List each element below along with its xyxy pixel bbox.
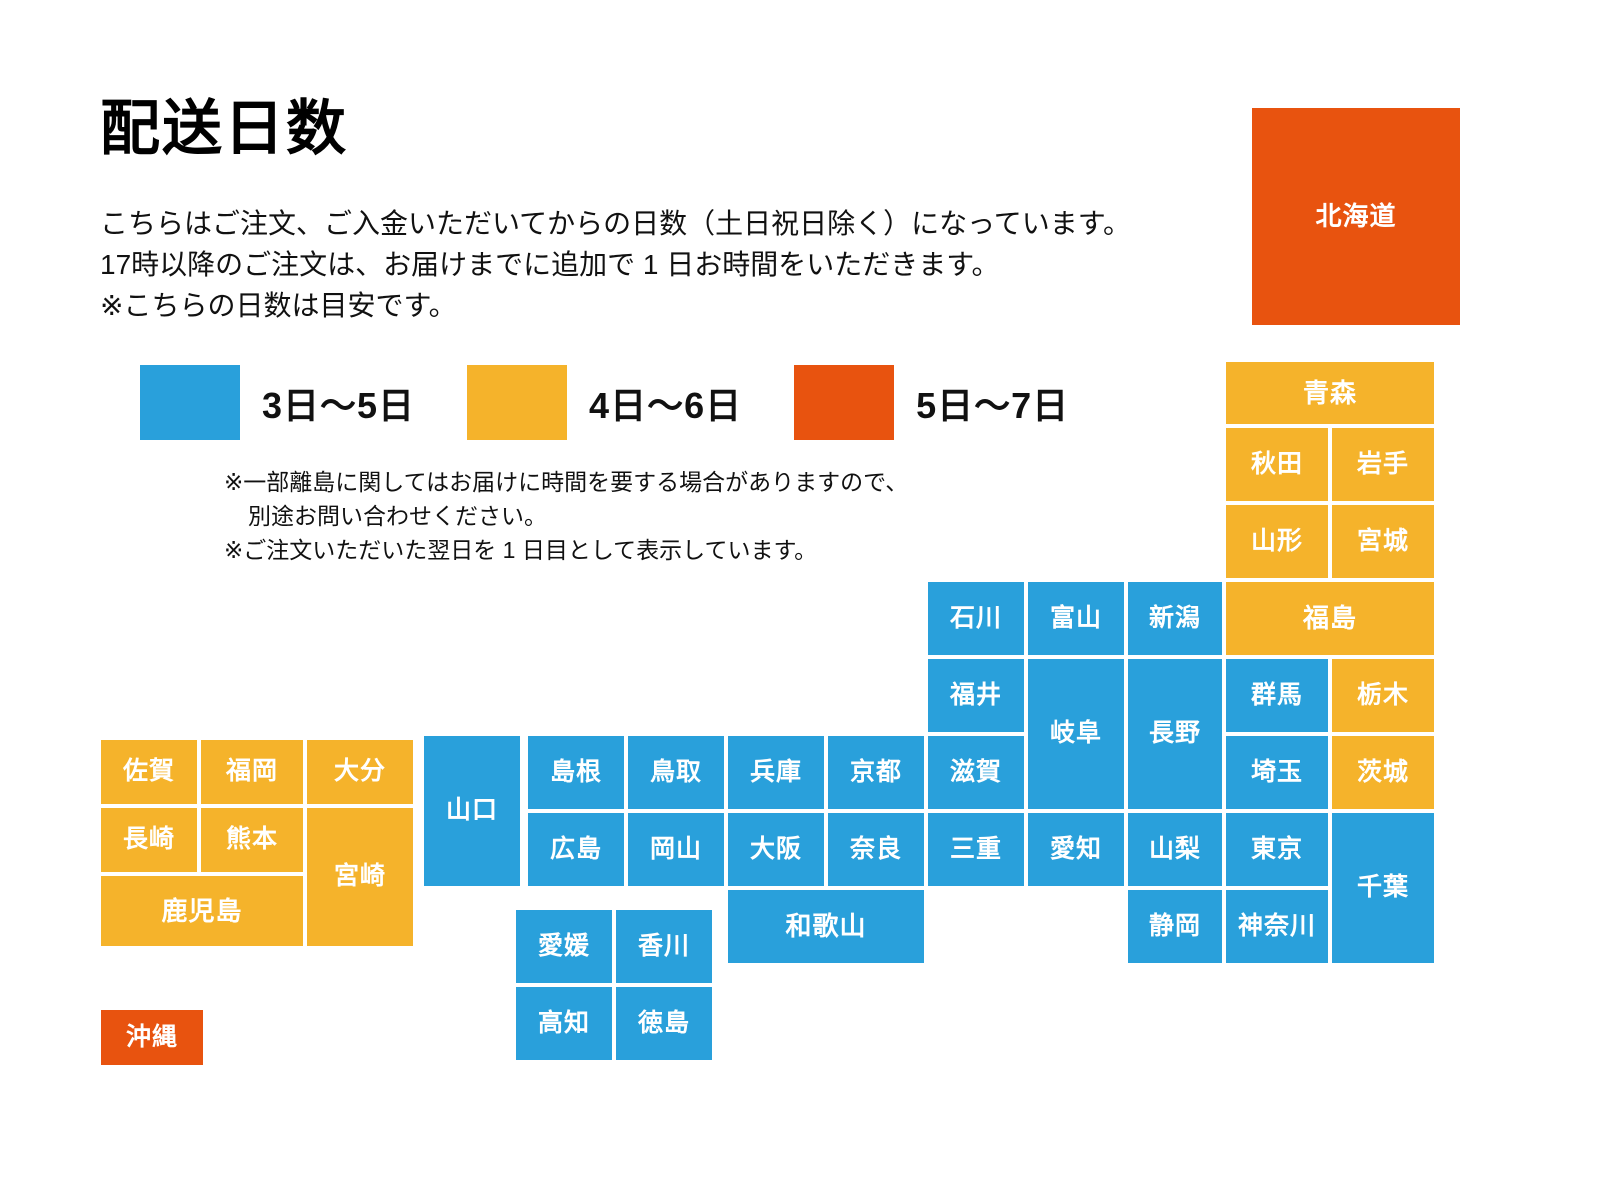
japan-prefecture-map: 北海道青森秋田岩手山形宮城福島石川富山新潟福井岐阜長野群馬栃木滋賀埼玉茨城山口島…	[0, 0, 1600, 1200]
prefecture-label: 富山	[1050, 605, 1102, 633]
prefecture-label: 徳島	[638, 1010, 690, 1038]
prefecture-label: 奈良	[850, 836, 902, 864]
prefecture-label: 佐賀	[123, 758, 175, 786]
prefecture-cell[interactable]: 兵庫	[728, 736, 824, 809]
prefecture-label: 山口	[446, 797, 498, 825]
prefecture-label: 福井	[950, 682, 1002, 710]
prefecture-cell[interactable]: 富山	[1028, 582, 1124, 655]
prefecture-cell[interactable]: 滋賀	[928, 736, 1024, 809]
prefecture-cell[interactable]: 愛知	[1028, 813, 1124, 886]
prefecture-label: 三重	[950, 836, 1002, 864]
prefecture-cell[interactable]: 岡山	[628, 813, 724, 886]
prefecture-label: 岐阜	[1050, 720, 1102, 748]
prefecture-cell[interactable]: 三重	[928, 813, 1024, 886]
prefecture-label: 静岡	[1149, 913, 1201, 941]
prefecture-cell[interactable]: 北海道	[1252, 108, 1460, 325]
prefecture-label: 福島	[1303, 604, 1357, 633]
prefecture-cell[interactable]: 福岡	[201, 740, 303, 804]
prefecture-cell[interactable]: 東京	[1226, 813, 1328, 886]
prefecture-cell[interactable]: 群馬	[1226, 659, 1328, 732]
prefecture-label: 長野	[1149, 720, 1201, 748]
prefecture-cell[interactable]: 宮崎	[307, 808, 413, 946]
prefecture-label: 鳥取	[650, 759, 702, 787]
prefecture-label: 滋賀	[950, 759, 1002, 787]
prefecture-label: 和歌山	[785, 912, 866, 941]
prefecture-label: 京都	[850, 759, 902, 787]
prefecture-label: 神奈川	[1238, 913, 1316, 941]
prefecture-label: 山形	[1251, 528, 1303, 556]
prefecture-cell[interactable]: 宮城	[1332, 505, 1434, 578]
prefecture-cell[interactable]: 佐賀	[101, 740, 197, 804]
prefecture-cell[interactable]: 福井	[928, 659, 1024, 732]
prefecture-cell[interactable]: 大分	[307, 740, 413, 804]
prefecture-cell[interactable]: 栃木	[1332, 659, 1434, 732]
prefecture-cell[interactable]: 福島	[1226, 582, 1434, 655]
prefecture-label: 島根	[550, 759, 602, 787]
prefecture-cell[interactable]: 徳島	[616, 987, 712, 1060]
prefecture-label: 青森	[1303, 379, 1357, 408]
prefecture-label: 宮城	[1357, 528, 1409, 556]
prefecture-cell[interactable]: 秋田	[1226, 428, 1328, 501]
prefecture-cell[interactable]: 鹿児島	[101, 876, 303, 946]
prefecture-cell[interactable]: 埼玉	[1226, 736, 1328, 809]
prefecture-cell[interactable]: 岐阜	[1028, 659, 1124, 809]
prefecture-label: 沖縄	[126, 1024, 178, 1052]
prefecture-label: 秋田	[1251, 451, 1303, 479]
prefecture-label: 長崎	[123, 826, 175, 854]
prefecture-label: 岩手	[1357, 451, 1409, 479]
prefecture-cell[interactable]: 神奈川	[1226, 890, 1328, 963]
prefecture-cell[interactable]: 千葉	[1332, 813, 1434, 963]
prefecture-label: 茨城	[1357, 759, 1409, 787]
prefecture-label: 東京	[1251, 836, 1303, 864]
prefecture-label: 石川	[950, 605, 1002, 633]
prefecture-cell[interactable]: 山梨	[1128, 813, 1222, 886]
prefecture-label: 岡山	[650, 836, 702, 864]
prefecture-cell[interactable]: 長崎	[101, 808, 197, 872]
prefecture-cell[interactable]: 島根	[528, 736, 624, 809]
prefecture-label: 北海道	[1315, 202, 1396, 231]
prefecture-cell[interactable]: 石川	[928, 582, 1024, 655]
prefecture-label: 新潟	[1149, 605, 1201, 633]
prefecture-cell[interactable]: 熊本	[201, 808, 303, 872]
prefecture-cell[interactable]: 新潟	[1128, 582, 1222, 655]
prefecture-cell[interactable]: 広島	[528, 813, 624, 886]
prefecture-cell[interactable]: 和歌山	[728, 890, 924, 963]
prefecture-cell[interactable]: 茨城	[1332, 736, 1434, 809]
prefecture-label: 鹿児島	[161, 897, 242, 926]
prefecture-label: 大阪	[750, 836, 802, 864]
prefecture-cell[interactable]: 静岡	[1128, 890, 1222, 963]
prefecture-label: 高知	[538, 1010, 590, 1038]
prefecture-cell[interactable]: 青森	[1226, 362, 1434, 424]
prefecture-label: 栃木	[1357, 682, 1409, 710]
prefecture-label: 群馬	[1251, 682, 1303, 710]
prefecture-label: 愛媛	[538, 933, 590, 961]
prefecture-label: 愛知	[1050, 836, 1102, 864]
prefecture-label: 熊本	[226, 826, 278, 854]
prefecture-cell[interactable]: 愛媛	[516, 910, 612, 983]
infographic-canvas: 配送日数 こちらはご注文、ご入金いただいてからの日数（土日祝日除く）になっていま…	[0, 0, 1600, 1200]
prefecture-label: 大分	[334, 758, 386, 786]
prefecture-label: 福岡	[226, 758, 278, 786]
prefecture-cell[interactable]: 岩手	[1332, 428, 1434, 501]
prefecture-cell[interactable]: 京都	[828, 736, 924, 809]
prefecture-label: 兵庫	[750, 759, 802, 787]
prefecture-cell[interactable]: 奈良	[828, 813, 924, 886]
prefecture-cell[interactable]: 山形	[1226, 505, 1328, 578]
prefecture-cell[interactable]: 香川	[616, 910, 712, 983]
prefecture-cell[interactable]: 長野	[1128, 659, 1222, 809]
prefecture-label: 山梨	[1149, 836, 1201, 864]
prefecture-cell[interactable]: 鳥取	[628, 736, 724, 809]
prefecture-cell[interactable]: 高知	[516, 987, 612, 1060]
prefecture-label: 千葉	[1357, 874, 1409, 902]
prefecture-label: 埼玉	[1251, 759, 1303, 787]
prefecture-label: 香川	[638, 933, 690, 961]
prefecture-cell[interactable]: 山口	[424, 736, 520, 886]
prefecture-cell[interactable]: 大阪	[728, 813, 824, 886]
prefecture-cell[interactable]: 沖縄	[101, 1010, 203, 1065]
prefecture-label: 宮崎	[334, 863, 386, 891]
prefecture-label: 広島	[550, 836, 602, 864]
